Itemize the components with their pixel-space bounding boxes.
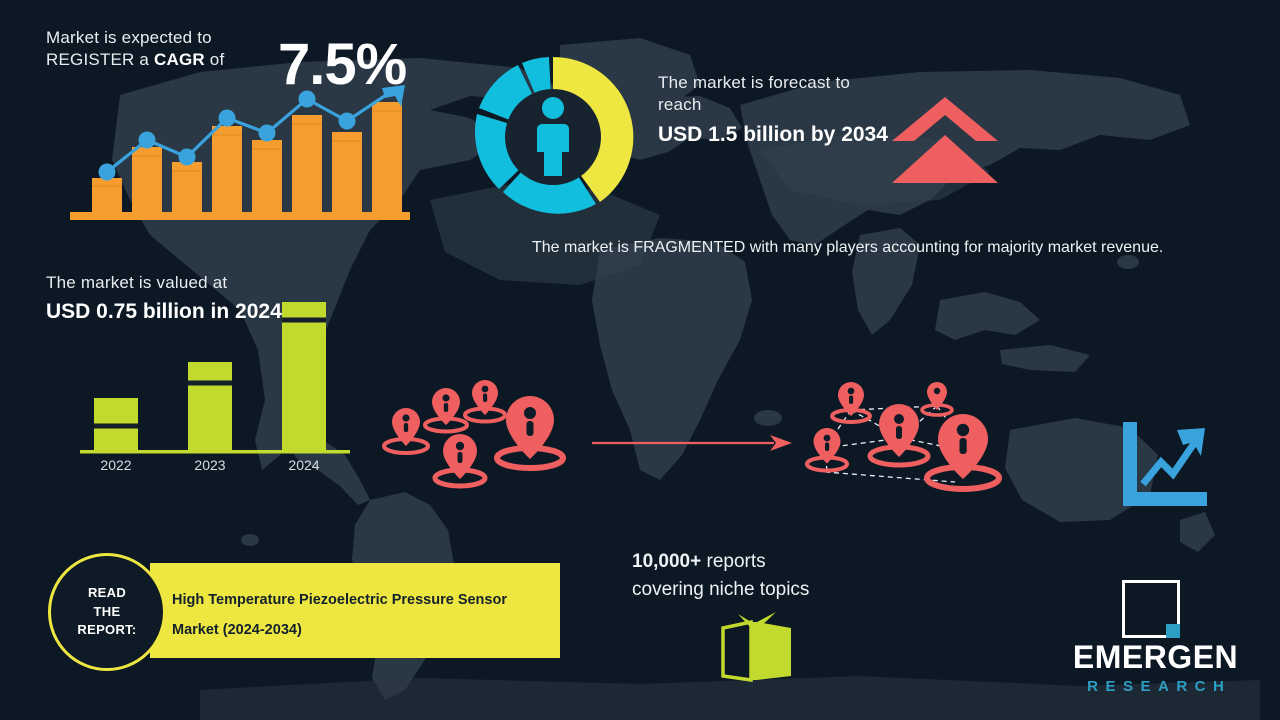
badge-line2: THE	[77, 603, 136, 622]
right-arrow-icon	[592, 432, 792, 454]
report-title-line1: High Temperature Piezoelectric Pressure …	[172, 585, 542, 615]
green-chart-baseline	[80, 450, 350, 454]
forecast-block: The market is forecast to reach USD 1.5 …	[658, 72, 898, 148]
location-pin-icon	[870, 404, 928, 465]
market-share-donut	[468, 52, 638, 222]
badge-line3: REPORT:	[77, 621, 136, 640]
location-pin-icon	[435, 434, 485, 486]
green-revenue-chart: 2022 2023 2024	[80, 290, 350, 470]
reports-count: 10,000+	[632, 551, 701, 572]
location-pin-icon	[807, 428, 847, 471]
cagr-label-line2-bold: CAGR	[154, 50, 205, 69]
location-pins-scattered	[380, 380, 590, 500]
read-the-report-label: READ THE REPORT:	[77, 584, 136, 641]
green-chart-xlabels: 2022 2023 2024	[100, 457, 319, 470]
read-the-report-badge[interactable]: READ THE REPORT:	[48, 553, 166, 671]
report-title-line2: Market (2024-2034)	[172, 615, 542, 645]
chart-baseline	[70, 212, 410, 220]
cagr-label-line1: Market is expected to	[46, 27, 236, 49]
fragmented-market-text: The market is FRAGMENTED with many playe…	[532, 236, 1222, 259]
forecast-headline: USD 1.5 billion by 2034	[658, 122, 898, 148]
report-title: High Temperature Piezoelectric Pressure …	[172, 585, 542, 646]
logo-square-mark	[1120, 578, 1182, 640]
double-chevron-up-icon	[890, 95, 1000, 185]
logo-wordmark: EMERGEN	[1058, 640, 1253, 675]
open-book-icon	[718, 612, 796, 684]
cagr-label-line2-pre: REGISTER a	[46, 50, 154, 69]
cagr-label: Market is expected to REGISTER a CAGR of	[46, 22, 236, 71]
cagr-label-line2: REGISTER a CAGR of	[46, 49, 236, 71]
reports-count-block: 10,000+ reports covering niche topics	[632, 548, 922, 603]
location-pin-icon	[497, 396, 563, 468]
reports-line1: 10,000+ reports	[632, 548, 922, 576]
location-pins-network	[805, 380, 1020, 505]
location-pin-icon	[922, 382, 952, 415]
location-pin-icon	[927, 414, 999, 489]
location-pin-icon	[384, 408, 428, 453]
reports-line2: covering niche topics	[632, 576, 922, 604]
reports-label-rest: reports	[701, 551, 765, 572]
orange-bars	[92, 102, 402, 212]
xlabel-2023: 2023	[194, 457, 225, 470]
badge-line1: READ	[77, 584, 136, 603]
cagr-label-line2-post: of	[205, 50, 225, 69]
cagr-block: Market is expected to REGISTER a CAGR of…	[46, 22, 406, 71]
xlabel-2022: 2022	[100, 457, 131, 470]
forecast-sub: The market is forecast to reach	[658, 72, 898, 116]
read-the-report-banner[interactable]: High Temperature Piezoelectric Pressure …	[150, 563, 560, 658]
infographic-canvas: Market is expected to REGISTER a CAGR of…	[0, 0, 1280, 720]
orange-growth-chart	[70, 85, 410, 220]
location-pin-icon	[465, 380, 505, 422]
location-pin-icon	[832, 382, 870, 422]
location-pin-icon	[425, 388, 467, 432]
logo-subtext: RESEARCH	[1058, 678, 1253, 695]
growth-chart-icon	[1115, 420, 1210, 510]
xlabel-2024: 2024	[288, 457, 319, 470]
